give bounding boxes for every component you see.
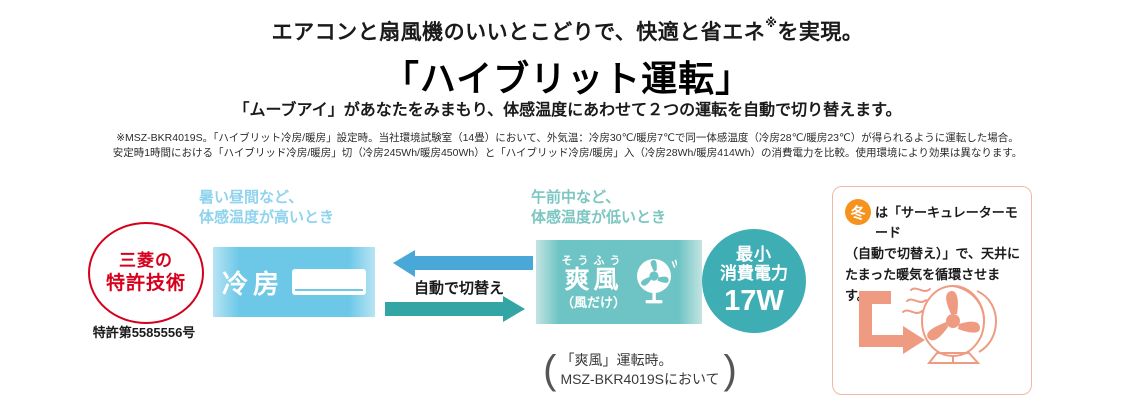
- cooling-caption: 暑い昼間など、 体感温度が高いとき: [199, 188, 334, 229]
- patent-seal-line-1: 三菱の: [119, 251, 173, 272]
- fan-caption-line-2: 体感温度が低いとき: [531, 208, 666, 228]
- electric-fan-icon: [635, 256, 677, 308]
- fan-mode-panel: そうふう 爽風 （風だけ）: [536, 240, 702, 324]
- infographic-root: エアコンと扇風機のいいとこどりで、快適と省エネ※を実現。 「ハイブリット運転」 …: [0, 0, 1135, 403]
- arrow-right-icon: [385, 296, 525, 322]
- winter-text-line-1: は「サーキュレーターモード: [875, 199, 1021, 243]
- circulating-air-fan-illustration: [841, 277, 1023, 372]
- lead-text-tail: を実現。: [777, 21, 863, 44]
- cooling-panel-label: 冷房: [222, 264, 284, 301]
- badge-value: 17W: [724, 285, 784, 317]
- patent-seal: 三菱の 特許技術: [88, 222, 204, 324]
- fan-panel-sublabel: （風だけ）: [561, 296, 626, 309]
- note-line-2: MSZ-BKR4019Sにおいて: [560, 370, 719, 389]
- auto-switch-label: 自動で切替え: [385, 277, 533, 298]
- fan-panel-text: そうふう 爽風 （風だけ）: [561, 256, 626, 309]
- subheadline: 「ムーブアイ」があなたをみまもり、体感温度にあわせて２つの運転を自動で切り替えま…: [0, 96, 1135, 120]
- lead-asterisk-mark: ※: [765, 16, 777, 30]
- fine-print-line-2: 安定時1時間における「ハイブリッド冷房/暖房」切（冷房245Wh/暖房450Wh…: [0, 146, 1135, 161]
- arrow-left-icon: [393, 250, 533, 277]
- badge-line-1: 最小: [736, 245, 772, 264]
- lead-text: エアコンと扇風機のいいとこどりで、快適と省エネ※を実現。: [0, 16, 1135, 46]
- lead-text-main: エアコンと扇風機のいいとこどりで、快適と省エネ: [272, 21, 766, 44]
- patent-number: 特許第5585556号: [78, 322, 210, 341]
- fan-panel-ruby: そうふう: [561, 256, 625, 267]
- cooling-caption-line-1: 暑い昼間など、: [199, 188, 334, 208]
- winter-mode-box: 冬 は「サーキュレーターモード （自動で切替え）」で、天井に たまった暖気を循環…: [832, 186, 1032, 395]
- cooling-mode-panel: 冷房: [213, 247, 375, 317]
- fan-outline-icon: [922, 286, 996, 363]
- winter-text-line-2: （自動で切替え）」で、天井に: [845, 244, 1021, 264]
- headline: 「ハイブリット運転」: [0, 50, 1135, 102]
- badge-line-2: 消費電力: [720, 264, 788, 283]
- fan-caption-line-1: 午前中など、: [531, 188, 666, 208]
- patent-seal-line-2: 特許技術: [106, 272, 186, 295]
- cooling-caption-line-2: 体感温度が高いとき: [199, 208, 334, 228]
- winter-season-chip: 冬: [845, 199, 871, 225]
- fan-mode-note: ( 「爽風」運転時。 MSZ-BKR4019Sにおいて ): [524, 348, 756, 392]
- min-power-badge: 最小 消費電力 17W: [702, 229, 806, 333]
- fan-panel-label: 爽風: [564, 268, 622, 293]
- fine-print-line-1: ※MSZ-BKR4019S。「ハイブリット冷房/暖房」設定時。当社環境試験室（1…: [0, 131, 1135, 146]
- airflow-waves-icon: [903, 289, 930, 313]
- note-line-1: 「爽風」運転時。: [560, 351, 719, 370]
- fan-caption: 午前中など、 体感温度が低いとき: [531, 188, 666, 229]
- air-conditioner-icon: [292, 269, 366, 295]
